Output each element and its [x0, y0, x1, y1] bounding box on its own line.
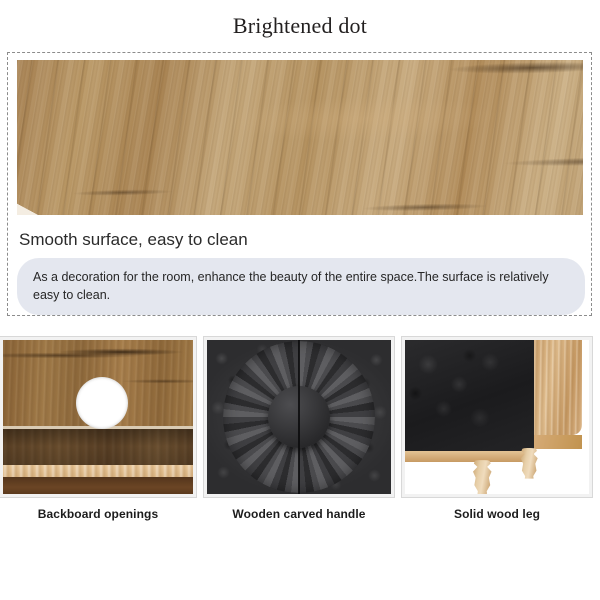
leg-profile	[471, 460, 493, 494]
detail-card-backboard-openings[interactable]: Backboard openings	[0, 337, 196, 497]
solid-wood-leg-photo-icon	[402, 337, 592, 497]
feature-card: Smooth surface, easy to clean As a decor…	[7, 52, 592, 316]
cabinet-interior-photo-icon	[0, 337, 196, 497]
carved-front-panel	[405, 340, 534, 451]
cabinet-corner-scene	[405, 340, 589, 494]
side-bottom-rail	[534, 435, 582, 449]
feature-description: As a decoration for the room, enhance th…	[17, 258, 585, 315]
turned-wood-leg-front	[471, 460, 493, 494]
detail-card-strip: Backboard openings Wooden carved handle	[0, 337, 600, 535]
wood-grain-texture-icon	[17, 60, 583, 215]
detail-card-caption: Wooden carved handle	[204, 507, 394, 521]
backboard-opening-hole-icon	[76, 377, 128, 429]
door-seam-line	[298, 340, 300, 494]
leg-profile	[519, 448, 539, 479]
front-bottom-rail	[405, 451, 534, 462]
oak-side-panel	[534, 340, 582, 435]
wood-corner-highlight	[17, 201, 43, 215]
detail-card-caption: Backboard openings	[0, 507, 196, 521]
cabinet-base-rail	[3, 477, 193, 494]
carved-rosette-handle-photo-icon	[204, 337, 394, 497]
feature-heading: Smooth surface, easy to clean	[19, 229, 248, 251]
detail-card-solid-wood-leg[interactable]: Solid wood leg	[402, 337, 592, 497]
turned-wood-leg-rear	[519, 448, 539, 479]
detail-card-wooden-carved-handle[interactable]: Wooden carved handle	[204, 337, 394, 497]
wood-grain-pattern	[17, 60, 583, 215]
page-title: Brightened dot	[0, 12, 600, 40]
cabinet-light-wood-strip	[3, 465, 193, 477]
detail-card-caption: Solid wood leg	[402, 507, 592, 521]
